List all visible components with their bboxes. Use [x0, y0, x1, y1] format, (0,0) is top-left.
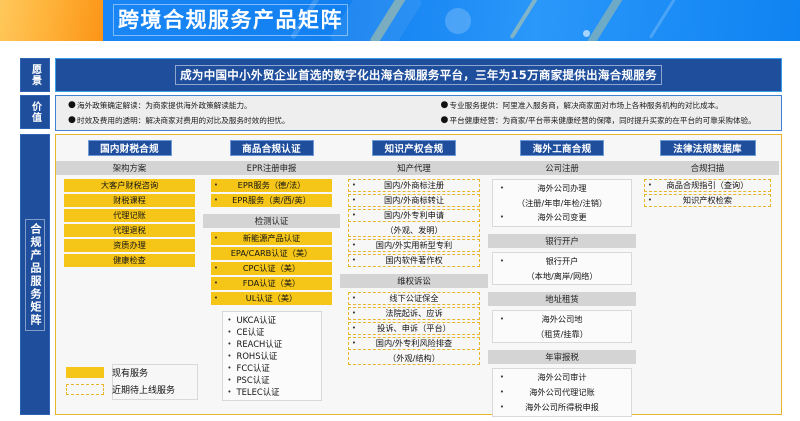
- value-text: 海外政策确定解读：为商家提供海外政策解读能力。: [77, 99, 252, 112]
- service-label: 健康检查: [74, 254, 195, 267]
- value-text: 时效及费用的透明：解决商家对费用的对比及服务时效的担忧。: [77, 114, 290, 127]
- legend-label: 现有服务: [112, 366, 148, 379]
- service-label: 银行开户: [507, 255, 627, 268]
- service-label: CPC认证（美）: [221, 262, 332, 275]
- bullet-icon: ●: [68, 99, 77, 112]
- legend-swatch-upcoming-icon: [66, 384, 104, 395]
- bullet-icon: •: [211, 277, 221, 290]
- service-item[interactable]: 代理退税: [64, 224, 195, 237]
- value-text: 平台健康经营：为商家/平台带来健康经营的保障，同时提升买家的在平台的可靠采购体验…: [450, 114, 756, 127]
- service-sublabel: （注册/年审/年检/注销）: [497, 197, 627, 209]
- matrix-label: 合规产品服务矩阵: [20, 134, 50, 415]
- bullet-icon: •: [349, 254, 359, 267]
- matrix-column-domestic-tax: 国内财税合规 架构方案 大客户财税咨询 财税课程 代理记账: [56, 135, 203, 414]
- legend-label: 近期待上线服务: [112, 383, 175, 396]
- service-item[interactable]: • 海外公司地: [497, 313, 627, 326]
- service-label: 海外公司办理: [507, 182, 627, 195]
- section-header: 维权诉讼: [340, 274, 488, 288]
- service-label: 海外公司代理记账: [507, 386, 627, 399]
- value-bullet-item: ● 海外政策确定解读：为商家提供海外政策解读能力。: [68, 99, 419, 112]
- service-item[interactable]: • FCC认证: [225, 362, 319, 374]
- service-sublabel: （外观/结构）: [348, 352, 480, 365]
- service-item[interactable]: • FDA认证（美）: [211, 277, 332, 290]
- column-header[interactable]: 海外工商合规: [520, 140, 604, 156]
- value-text: 专业服务提供：阿里准入服务商，解决商家面对市场上各种服务机构的对比成本。: [450, 99, 723, 112]
- service-item[interactable]: 财税课程: [64, 194, 195, 207]
- vision-label: 愿景: [20, 58, 50, 92]
- column-header[interactable]: 国内财税合规: [88, 140, 172, 156]
- service-group: • 国内/外商标注册 • 国内/外商标转让 • 国内/外专利申请 （外观、发明）…: [344, 179, 484, 267]
- service-item[interactable]: • 银行开户: [497, 255, 627, 268]
- page-title: 跨境合规服务产品矩阵: [114, 5, 347, 35]
- header-orange-accent: [0, 0, 103, 41]
- decorative-circle-icon: [445, 8, 471, 34]
- service-label: 资质办理: [74, 239, 195, 252]
- decorative-streak-icon: [586, 0, 628, 41]
- service-label: 国内/外专利申请: [359, 209, 479, 222]
- service-label: 代理记账: [74, 209, 195, 222]
- column-header[interactable]: 法律法规数据库: [660, 140, 756, 156]
- bullet-icon: •: [497, 211, 507, 224]
- matrix-column-product-certification: 商品合规认证 EPR注册申报 • EPR服务（德/法） • EPR服务（奥/西/…: [203, 135, 340, 414]
- value-panel: ● 海外政策确定解读：为商家提供海外政策解读能力。 ● 时效及费用的透明：解决商…: [55, 95, 782, 131]
- service-label: 知识产权检索: [655, 194, 770, 207]
- service-item[interactable]: • 法院起诉、应诉: [348, 307, 480, 320]
- service-label: 法院起诉、应诉: [359, 307, 479, 320]
- service-item[interactable]: • 国内/外专利申请: [348, 209, 480, 222]
- service-label: 代理退税: [74, 224, 195, 237]
- service-label: 海外公司所得税申报: [507, 401, 627, 414]
- section-header: 检测认证: [203, 214, 340, 228]
- service-item[interactable]: • ROHS认证: [225, 350, 319, 362]
- bullet-icon: ●: [441, 114, 450, 127]
- bullet-icon: •: [349, 337, 359, 350]
- bullet-icon: •: [349, 292, 359, 305]
- section-header: 年审报税: [488, 350, 636, 364]
- value-label: 价值: [20, 95, 50, 129]
- bullet-icon: •: [225, 386, 235, 399]
- bullet-icon: •: [211, 179, 221, 192]
- legend-row-existing: 现有服务: [66, 364, 198, 381]
- bullet-icon: •: [349, 322, 359, 335]
- bullet-icon: •: [645, 194, 655, 207]
- service-label: EPA/CARB认证（美）: [221, 247, 332, 260]
- service-label: TELEC认证: [235, 386, 319, 399]
- bullet-icon: ●: [68, 114, 77, 127]
- bullet-icon: •: [349, 194, 359, 207]
- legend-swatch-existing-icon: [66, 367, 104, 378]
- service-item[interactable]: • 海外公司变更: [497, 211, 627, 224]
- certification-list: • UKCA认证 • CE认证 • REACH认证 • ROHS认证: [222, 311, 322, 401]
- service-label: 国内/外专利风险排查: [359, 337, 479, 350]
- service-item[interactable]: • 投诉、申诉（平台）: [348, 322, 480, 335]
- service-label: 海外公司审计: [507, 371, 627, 384]
- bullet-icon: •: [497, 401, 507, 414]
- service-item[interactable]: EPA/CARB认证（美）: [211, 247, 332, 260]
- value-label-text: 价值: [30, 101, 41, 123]
- service-item[interactable]: • UKCA认证: [225, 314, 319, 326]
- bullet-icon: •: [497, 313, 507, 326]
- service-label: 大客户财税咨询: [74, 179, 195, 192]
- service-item[interactable]: • EPR服务（德/法）: [211, 179, 332, 192]
- bullet-icon: •: [497, 386, 507, 399]
- service-item[interactable]: • 商品合规指引（查询）: [644, 179, 771, 192]
- matrix-column-ip-compliance: 知识产权合规 知产代理 • 国内/外商标注册 • 国内/外商标转让 • 国内/外…: [340, 135, 488, 414]
- column-header[interactable]: 商品合规认证: [230, 140, 314, 156]
- service-label: 投诉、申诉（平台）: [359, 322, 479, 335]
- slide-header: 跨境合规服务产品矩阵: [0, 0, 800, 41]
- service-item[interactable]: • 国内/外商标转让: [348, 194, 480, 207]
- matrix-label-text: 合规产品服务矩阵: [26, 220, 44, 330]
- service-item[interactable]: 大客户财税咨询: [64, 179, 195, 192]
- vision-label-text: 愿景: [30, 64, 41, 86]
- service-label: 国内/外商标转让: [359, 194, 479, 207]
- service-group: • 银行开户 （本地/离岸/网络）: [492, 252, 632, 285]
- service-group: • 海外公司审计 • 海外公司代理记账 • 海外公司所得税申报: [492, 368, 632, 417]
- service-label: 财税课程: [74, 194, 195, 207]
- service-label: 线下公证保全: [359, 292, 479, 305]
- vision-banner: 成为中国中小外贸企业首选的数字化出海合规服务平台，三年为15万商家提供出海合规服…: [55, 58, 782, 92]
- service-item[interactable]: • 国内/外商标注册: [348, 179, 480, 192]
- service-item[interactable]: • REACH认证: [225, 338, 319, 350]
- matrix-row: 合规产品服务矩阵 国内财税合规 架构方案 大客户财税咨询 财税课程: [20, 134, 782, 415]
- bullet-icon: •: [349, 239, 359, 252]
- bullet-icon: •: [211, 292, 221, 305]
- service-label: 国内/外商标注册: [359, 179, 479, 192]
- service-item[interactable]: • 国内/外专利风险排查: [348, 337, 480, 350]
- service-group: • 线下公证保全 • 法院起诉、应诉 • 投诉、申诉（平台） • 国内/外专利风…: [344, 292, 484, 365]
- service-item[interactable]: • 国内/外实用新型专利: [348, 239, 480, 252]
- service-item[interactable]: • EPR服务（奥/西/英）: [211, 194, 332, 207]
- service-label: 国内/外实用新型专利: [359, 239, 479, 252]
- service-item[interactable]: • 线下公证保全: [348, 292, 480, 305]
- service-item[interactable]: • 海外公司审计: [497, 371, 627, 384]
- service-label: EPR服务（奥/西/英）: [221, 194, 332, 207]
- service-sublabel: （本地/离岸/网络）: [497, 270, 627, 282]
- service-label: FDA认证（美）: [221, 277, 332, 290]
- value-column-right: ● 专业服务提供：阿里准入服务商，解决商家面对市场上各种服务机构的对比成本。 ●…: [419, 97, 782, 129]
- service-label: 商品合规指引（查询）: [655, 179, 770, 192]
- section-header: 架构方案: [56, 161, 203, 175]
- legend-row-upcoming: 近期待上线服务: [66, 381, 198, 398]
- service-item[interactable]: • 海外公司办理: [497, 182, 627, 195]
- bullet-icon: ●: [441, 99, 450, 112]
- bullet-icon: •: [497, 182, 507, 195]
- section-header: 银行开户: [488, 234, 636, 248]
- decorative-streak-icon: [510, 0, 541, 39]
- service-label: UL认证（美）: [221, 292, 332, 305]
- section-header: 知产代理: [340, 161, 488, 175]
- column-header[interactable]: 知识产权合规: [372, 140, 456, 156]
- section-header: 地址租赁: [488, 292, 636, 306]
- section-header: 合规扫描: [636, 161, 779, 175]
- vision-statement: 成为中国中小外贸企业首选的数字化出海合规服务平台，三年为15万商家提供出海合规服…: [176, 66, 661, 84]
- bullet-icon: •: [211, 194, 221, 207]
- vision-row: 愿景 成为中国中小外贸企业首选的数字化出海合规服务平台，三年为15万商家提供出海…: [20, 58, 782, 92]
- service-item[interactable]: • 知识产权检索: [644, 194, 771, 207]
- service-item[interactable]: 代理记账: [64, 209, 195, 222]
- section-header: 公司注册: [488, 161, 636, 175]
- service-item[interactable]: • 新能源产品认证: [211, 232, 332, 245]
- service-item[interactable]: • 国内软件著作权: [348, 254, 480, 267]
- bullet-icon: •: [497, 255, 507, 268]
- service-group: • 海外公司地 （租赁/挂靠）: [492, 310, 632, 343]
- service-item[interactable]: 资质办理: [64, 239, 195, 252]
- bullet-icon: •: [211, 232, 221, 245]
- service-item[interactable]: • 海外公司所得税申报: [497, 401, 627, 414]
- service-item[interactable]: • PSC认证: [225, 374, 319, 386]
- service-item[interactable]: • 海外公司代理记账: [497, 386, 627, 399]
- decorative-streak-icon: [649, 0, 680, 39]
- service-group: • 商品合规指引（查询） • 知识产权检索: [640, 179, 775, 207]
- legend: 现有服务 近期待上线服务: [66, 364, 198, 398]
- service-group: • 海外公司办理 （注册/年审/年检/注销） • 海外公司变更: [492, 179, 632, 227]
- decorative-dot-icon: [583, 30, 590, 37]
- service-label: EPR服务（德/法）: [221, 179, 332, 192]
- bullet-icon: •: [349, 179, 359, 192]
- service-item[interactable]: • TELEC认证: [225, 386, 319, 398]
- service-label: 海外公司变更: [507, 211, 627, 224]
- service-sublabel: （租赁/挂靠）: [497, 328, 627, 340]
- service-sublabel: （外观、发明）: [348, 224, 480, 237]
- value-row: 价值 ● 海外政策确定解读：为商家提供海外政策解读能力。 ● 时效及费用的透明：…: [20, 95, 782, 131]
- value-bullet-item: ● 平台健康经营：为商家/平台带来健康经营的保障，同时提升买家的在平台的可靠采购…: [441, 114, 782, 127]
- section-header: EPR注册申报: [203, 161, 340, 175]
- service-label: 海外公司地: [507, 313, 627, 326]
- service-group: • 新能源产品认证 EPA/CARB认证（美） • CPC认证（美） • FDA…: [207, 232, 336, 305]
- service-item[interactable]: • UL认证（美）: [211, 292, 332, 305]
- bullet-icon: •: [497, 371, 507, 384]
- service-item[interactable]: • CPC认证（美）: [211, 262, 332, 275]
- service-label: 新能源产品认证: [221, 232, 332, 245]
- slide-root: 跨境合规服务产品矩阵 愿景 成为中国中小外贸企业首选的数字化出海合规服务平台，三…: [0, 0, 800, 421]
- bullet-icon: •: [211, 262, 221, 275]
- bullet-icon: •: [349, 209, 359, 222]
- matrix-panel: 国内财税合规 架构方案 大客户财税咨询 财税课程 代理记账: [55, 134, 782, 415]
- bullet-icon: •: [645, 179, 655, 192]
- matrix-column-legal-database: 法律法规数据库 合规扫描 • 商品合规指引（查询） • 知识产权检索: [636, 135, 779, 414]
- value-bullet-item: ● 专业服务提供：阿里准入服务商，解决商家面对市场上各种服务机构的对比成本。: [441, 99, 782, 112]
- bullet-icon: •: [349, 307, 359, 320]
- value-bullet-item: ● 时效及费用的透明：解决商家对费用的对比及服务时效的担忧。: [68, 114, 419, 127]
- service-label: 国内软件著作权: [359, 254, 479, 267]
- service-group: 大客户财税咨询 财税课程 代理记账 代理退税: [60, 179, 199, 267]
- value-column-left: ● 海外政策确定解读：为商家提供海外政策解读能力。 ● 时效及费用的透明：解决商…: [56, 97, 419, 129]
- matrix-column-overseas-business: 海外工商合规 公司注册 • 海外公司办理 （注册/年审/年检/注销） • 海外公…: [488, 135, 636, 414]
- service-group: • EPR服务（德/法） • EPR服务（奥/西/英）: [207, 179, 336, 207]
- service-item[interactable]: 健康检查: [64, 254, 195, 267]
- service-item[interactable]: • CE认证: [225, 326, 319, 338]
